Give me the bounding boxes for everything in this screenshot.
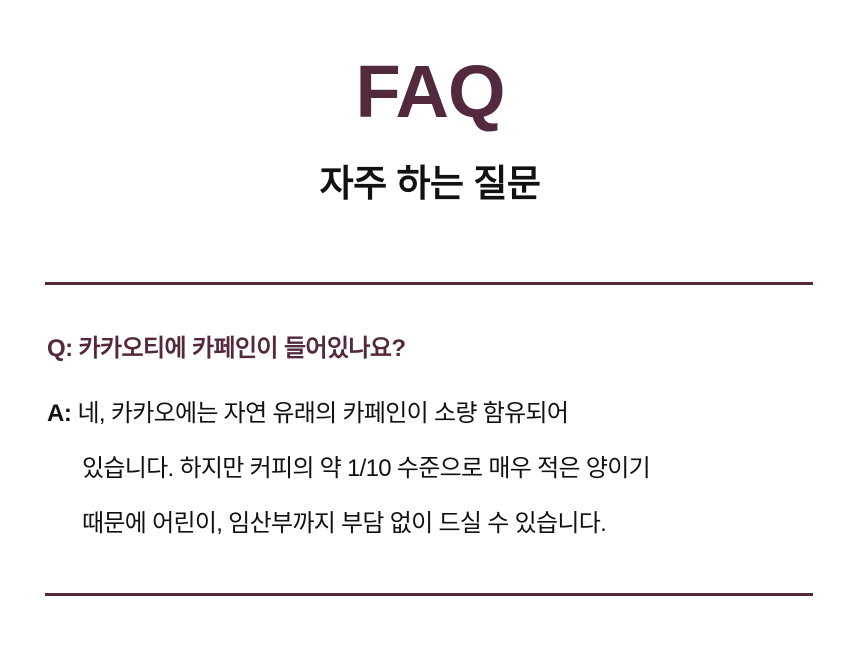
- answer-line-1: A: 네, 카카오에는 자연 유래의 카페인이 소량 함유되어: [47, 386, 837, 441]
- answer-text-3: 때문에 어린이, 임산부까지 부담 없이 드실 수 있습니다.: [82, 510, 606, 537]
- divider-bottom: [45, 593, 813, 596]
- answer-line-2: 있습니다. 하지만 커피의 약 1/10 수준으로 매우 적은 양이기: [47, 441, 837, 496]
- answer-text-1: 네, 카카오에는 자연 유래의 카페인이 소량 함유되어: [78, 400, 569, 427]
- answer-line-3: 때문에 어린이, 임산부까지 부담 없이 드실 수 있습니다.: [47, 496, 837, 551]
- page-title: FAQ: [0, 54, 860, 129]
- divider-top: [45, 282, 813, 285]
- faq-content: Q: 카카오티에 카페인이 들어있나요? A: 네, 카카오에는 자연 유래의 …: [47, 333, 837, 551]
- page-subtitle: 자주 하는 질문: [0, 129, 860, 206]
- faq-answer: A: 네, 카카오에는 자연 유래의 카페인이 소량 함유되어 있습니다. 하지…: [47, 364, 837, 551]
- faq-header: FAQ 자주 하는 질문: [0, 0, 860, 206]
- answer-text-2: 있습니다. 하지만 커피의 약 1/10 수준으로 매우 적은 양이기: [82, 455, 650, 482]
- answer-label: A:: [47, 400, 72, 427]
- faq-question: Q: 카카오티에 카페인이 들어있나요?: [47, 333, 837, 364]
- faq-page: FAQ 자주 하는 질문 Q: 카카오티에 카페인이 들어있나요? A: 네, …: [0, 0, 860, 647]
